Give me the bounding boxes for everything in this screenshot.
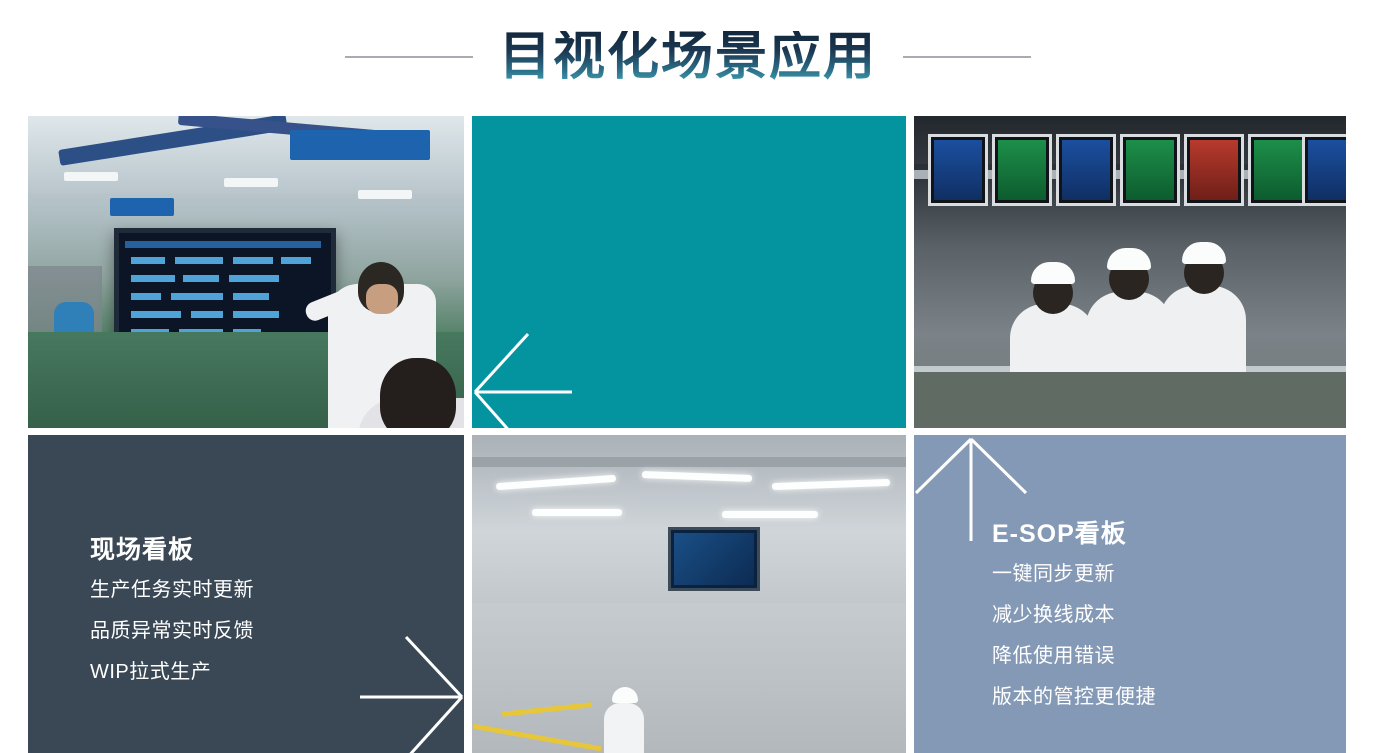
page-title: 目视化场景应用 (493, 31, 883, 83)
panel-esop-kanban-heading: E-SOP看板 (992, 521, 1346, 549)
assembly-line-monitors-photo (914, 116, 1346, 428)
hanging-display (668, 527, 760, 591)
panel-site-kanban-line-2: 品质异常实时反馈 (90, 620, 464, 642)
factory-floor-photo (472, 435, 906, 753)
scenario-grid: 车间看板 目视化管理 生产进度实时反馈 生产延迟预警提醒 (28, 116, 1346, 753)
panel-esop-kanban-line-2: 减少换线成本 (992, 604, 1346, 626)
workshop-led-board-photo (28, 116, 464, 428)
page-header: 目视化场景应用 (0, 14, 1376, 100)
panel-site-kanban[interactable]: 现场看板 生产任务实时更新 品质异常实时反馈 WIP拉式生产 (28, 435, 464, 753)
panel-esop-kanban-body: E-SOP看板 一键同步更新 减少换线成本 降低使用错误 版本的管控更便捷 (992, 521, 1346, 708)
panel-site-kanban-body: 现场看板 生产任务实时更新 品质异常实时反馈 WIP拉式生产 (90, 537, 464, 683)
panel-esop-kanban-line-1: 一键同步更新 (992, 563, 1346, 585)
arrow-left-icon (472, 312, 582, 428)
panel-esop-kanban[interactable]: E-SOP看板 一键同步更新 减少换线成本 降低使用错误 版本的管控更便捷 (914, 435, 1346, 753)
photo-cell-factory-floor (472, 435, 906, 753)
panel-esop-kanban-line-4: 版本的管控更便捷 (992, 686, 1346, 708)
photo-cell-assembly-line-monitors (914, 116, 1346, 428)
title-rule-left (345, 56, 473, 58)
panel-site-kanban-line-1: 生产任务实时更新 (90, 579, 464, 601)
panel-site-kanban-heading: 现场看板 (90, 537, 464, 565)
photo-cell-workshop-led-board (28, 116, 464, 428)
panel-esop-kanban-line-3: 降低使用错误 (992, 645, 1346, 667)
panel-site-kanban-line-3: WIP拉式生产 (90, 661, 464, 683)
panel-workshop-kanban[interactable]: 车间看板 目视化管理 生产进度实时反馈 生产延迟预警提醒 (472, 116, 906, 428)
title-rule-right (903, 56, 1031, 58)
